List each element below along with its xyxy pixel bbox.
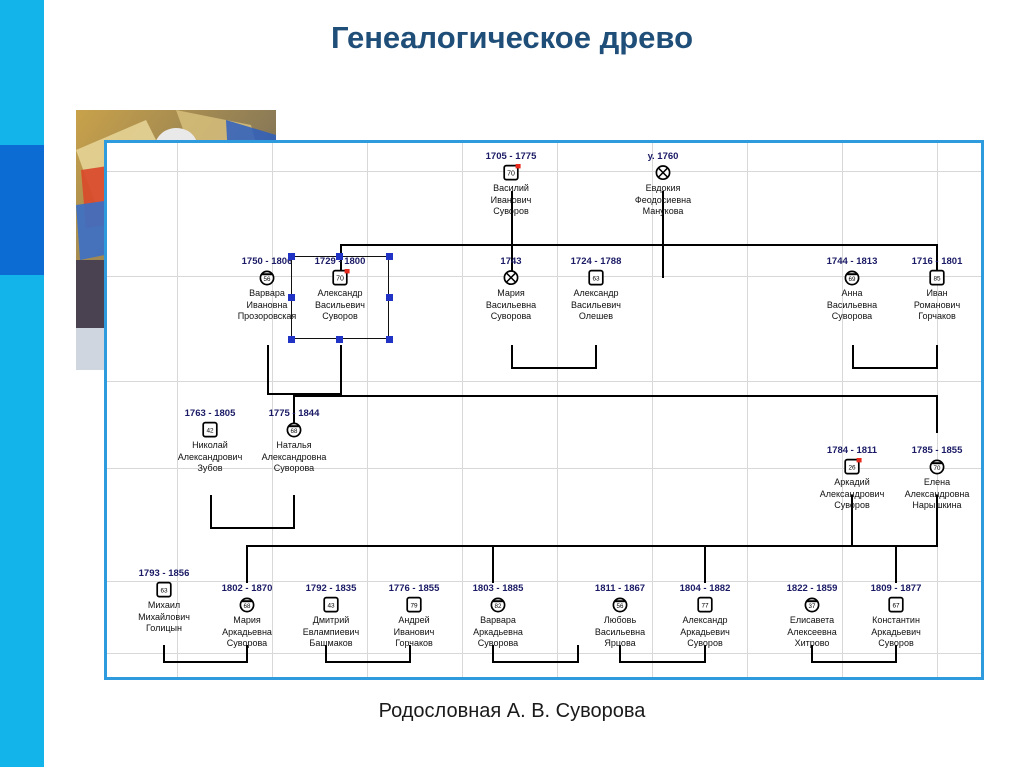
connector-line	[293, 395, 938, 397]
person-surname: Олешев	[544, 311, 648, 323]
left-accent-block	[0, 145, 44, 275]
unknown-person-icon[interactable]	[653, 164, 673, 182]
connector-line	[511, 345, 513, 369]
male-icon[interactable]: 26	[842, 458, 862, 476]
female-icon[interactable]: 69	[842, 269, 862, 287]
svg-text:63: 63	[592, 276, 600, 283]
person-patronymic: Александровна	[242, 452, 346, 464]
connector-line	[492, 545, 494, 583]
person-dates: 1804 - 1882	[653, 583, 757, 594]
connector-line	[340, 244, 938, 246]
connector-line	[267, 345, 269, 395]
person-patronymic: Феодосиевна	[611, 195, 715, 207]
person-node-selected: 1729 - 1800 70 Александр Васильевич Суво…	[288, 256, 392, 323]
person-surname: Горчаков	[885, 311, 981, 323]
connector-line	[895, 545, 897, 583]
female-icon[interactable]: 82	[488, 596, 508, 614]
person-name: Александр Васильевич Суворов	[288, 288, 392, 323]
connector-line	[340, 345, 342, 395]
person-given-name: Евдокия	[611, 183, 715, 195]
person-dates: у. 1760	[611, 151, 715, 162]
connector-line	[662, 244, 664, 278]
person-dates: 1809 - 1877	[844, 583, 948, 594]
person-node: 1809 - 1877 67 Константин Аркадьевич Сув…	[844, 583, 948, 650]
person-node: 1803 - 1885 82 Варвара Аркадьевна Суворо…	[446, 583, 550, 650]
person-node: 1804 - 1882 77 Александр Аркадьевич Суво…	[653, 583, 757, 650]
person-surname: Суворова	[242, 463, 346, 475]
person-patronymic: Александровна	[885, 489, 981, 501]
connector-line	[811, 661, 897, 663]
connector-line	[325, 661, 411, 663]
person-node: у. 1760 Евдокия Феодосиевна Манукова	[611, 151, 715, 218]
page-title: Генеалогическое древо	[0, 20, 1024, 56]
person-given-name: Александр	[653, 615, 757, 627]
person-name: Евдокия Феодосиевна Манукова	[611, 183, 715, 218]
left-accent-strip	[0, 0, 44, 767]
svg-text:77: 77	[701, 603, 709, 610]
person-surname: Суворов	[844, 638, 948, 650]
person-name: Александр Васильевич Олешев	[544, 288, 648, 323]
person-given-name: Елена	[885, 477, 981, 489]
svg-text:26: 26	[848, 465, 856, 472]
person-given-name: Александр	[544, 288, 648, 300]
connector-line	[246, 545, 896, 547]
person-name: Константин Аркадьевич Суворов	[844, 615, 948, 650]
person-name: Василий Иванович Суворов	[459, 183, 563, 218]
female-icon[interactable]: 70	[927, 458, 947, 476]
male-icon[interactable]: 77	[695, 596, 715, 614]
person-node: 1785 - 1855 70 Елена Александровна Нарыш…	[885, 445, 981, 512]
connector-line	[210, 495, 212, 529]
selection-handle[interactable]	[336, 336, 343, 343]
svg-text:70: 70	[934, 465, 941, 472]
svg-text:79: 79	[410, 603, 418, 610]
connector-line	[936, 395, 938, 433]
male-icon[interactable]: 63	[586, 269, 606, 287]
male-icon[interactable]: 43	[321, 596, 341, 614]
person-surname: Суворов	[288, 311, 392, 323]
grid-line-horizontal	[107, 381, 981, 382]
connector-line	[852, 345, 854, 369]
svg-text:70: 70	[336, 276, 344, 283]
svg-text:42: 42	[206, 428, 214, 435]
person-name: Иван Романович Горчаков	[885, 288, 981, 323]
connector-line	[246, 545, 248, 583]
connector-line	[936, 345, 938, 369]
connector-line	[619, 661, 706, 663]
genealogy-tree-panel[interactable]: 1705 - 1775 70 Василий Иванович Суворов …	[104, 140, 984, 680]
svg-text:69: 69	[849, 276, 856, 283]
svg-text:56: 56	[617, 603, 624, 610]
svg-text:67: 67	[892, 603, 900, 610]
person-patronymic: Аркадьевич	[653, 627, 757, 639]
svg-text:68: 68	[244, 603, 251, 610]
male-icon[interactable]: 85	[927, 269, 947, 287]
svg-text:85: 85	[933, 276, 941, 283]
person-given-name: Варвара	[446, 615, 550, 627]
male-icon[interactable]: 63	[154, 581, 174, 599]
male-icon[interactable]: 79	[404, 596, 424, 614]
male-icon[interactable]: 70	[501, 164, 521, 182]
person-patronymic: Васильевич	[544, 300, 648, 312]
connector-line	[163, 661, 248, 663]
person-name: Наталья Александровна Суворова	[242, 440, 346, 475]
grid-line-vertical	[557, 143, 558, 677]
person-dates: 1803 - 1885	[446, 583, 550, 594]
person-dates: 1724 - 1788	[544, 256, 648, 267]
svg-text:70: 70	[507, 171, 515, 178]
person-surname: Манукова	[611, 206, 715, 218]
selection-handle[interactable]	[288, 336, 295, 343]
person-dates: 1793 - 1856	[112, 568, 216, 579]
female-icon[interactable]: 68	[284, 421, 304, 439]
connector-line	[595, 345, 597, 369]
person-name: Александр Аркадьевич Суворов	[653, 615, 757, 650]
female-icon[interactable]: 56	[257, 269, 277, 287]
person-given-name: Наталья	[242, 440, 346, 452]
svg-text:37: 37	[809, 603, 816, 610]
connector-line	[210, 527, 295, 529]
person-name: Варвара Аркадьевна Суворова	[446, 615, 550, 650]
person-node: 1724 - 1788 63 Александр Васильевич Олеш…	[544, 256, 648, 323]
person-given-name: Василий	[459, 183, 563, 195]
svg-text:63: 63	[160, 588, 168, 595]
connector-line	[293, 495, 295, 529]
female-icon[interactable]: 68	[237, 596, 257, 614]
person-node: 1716 - 1801 85 Иван Романович Горчаков	[885, 256, 981, 323]
person-dates: 1785 - 1855	[885, 445, 981, 456]
person-patronymic: Романович	[885, 300, 981, 312]
connector-line	[492, 661, 579, 663]
person-patronymic: Аркадьевич	[844, 627, 948, 639]
person-dates: 1716 - 1801	[885, 256, 981, 267]
person-node: 1705 - 1775 70 Василий Иванович Суворов	[459, 151, 563, 218]
person-surname: Нарышкина	[885, 500, 981, 512]
male-icon[interactable]: 67	[886, 596, 906, 614]
svg-text:68: 68	[291, 428, 298, 435]
grid-line-horizontal	[107, 581, 981, 582]
person-given-name: Александр	[288, 288, 392, 300]
person-surname: Суворов	[653, 638, 757, 650]
grid-line-horizontal	[107, 653, 981, 654]
person-patronymic: Васильевич	[288, 300, 392, 312]
person-given-name: Иван	[885, 288, 981, 300]
slide-caption: Родословная А. В. Суворова	[0, 700, 1024, 723]
accent-gap	[44, 0, 54, 767]
person-dates: 1729 - 1800	[288, 256, 392, 267]
female-icon[interactable]: 56	[610, 596, 630, 614]
person-dates: 1705 - 1775	[459, 151, 563, 162]
person-surname: Суворова	[446, 638, 550, 650]
tree-canvas[interactable]: 1705 - 1775 70 Василий Иванович Суворов …	[107, 143, 981, 677]
connector-line	[852, 367, 938, 369]
unknown-person-icon[interactable]	[501, 269, 521, 287]
connector-line	[704, 545, 706, 583]
selection-handle[interactable]	[386, 336, 393, 343]
male-icon[interactable]: 70	[330, 269, 350, 287]
connector-line	[511, 367, 597, 369]
person-given-name: Константин	[844, 615, 948, 627]
person-patronymic: Иванович	[459, 195, 563, 207]
svg-text:43: 43	[327, 603, 335, 610]
person-surname: Суворов	[459, 206, 563, 218]
svg-text:82: 82	[495, 603, 502, 610]
person-name: Елена Александровна Нарышкина	[885, 477, 981, 512]
person-node: 1775 - 1844 68 Наталья Александровна Сув…	[242, 408, 346, 475]
person-dates: 1775 - 1844	[242, 408, 346, 419]
person-patronymic: Аркадьевна	[446, 627, 550, 639]
svg-text:56: 56	[264, 276, 271, 283]
female-icon[interactable]: 37	[802, 596, 822, 614]
male-icon[interactable]: 42	[200, 421, 220, 439]
